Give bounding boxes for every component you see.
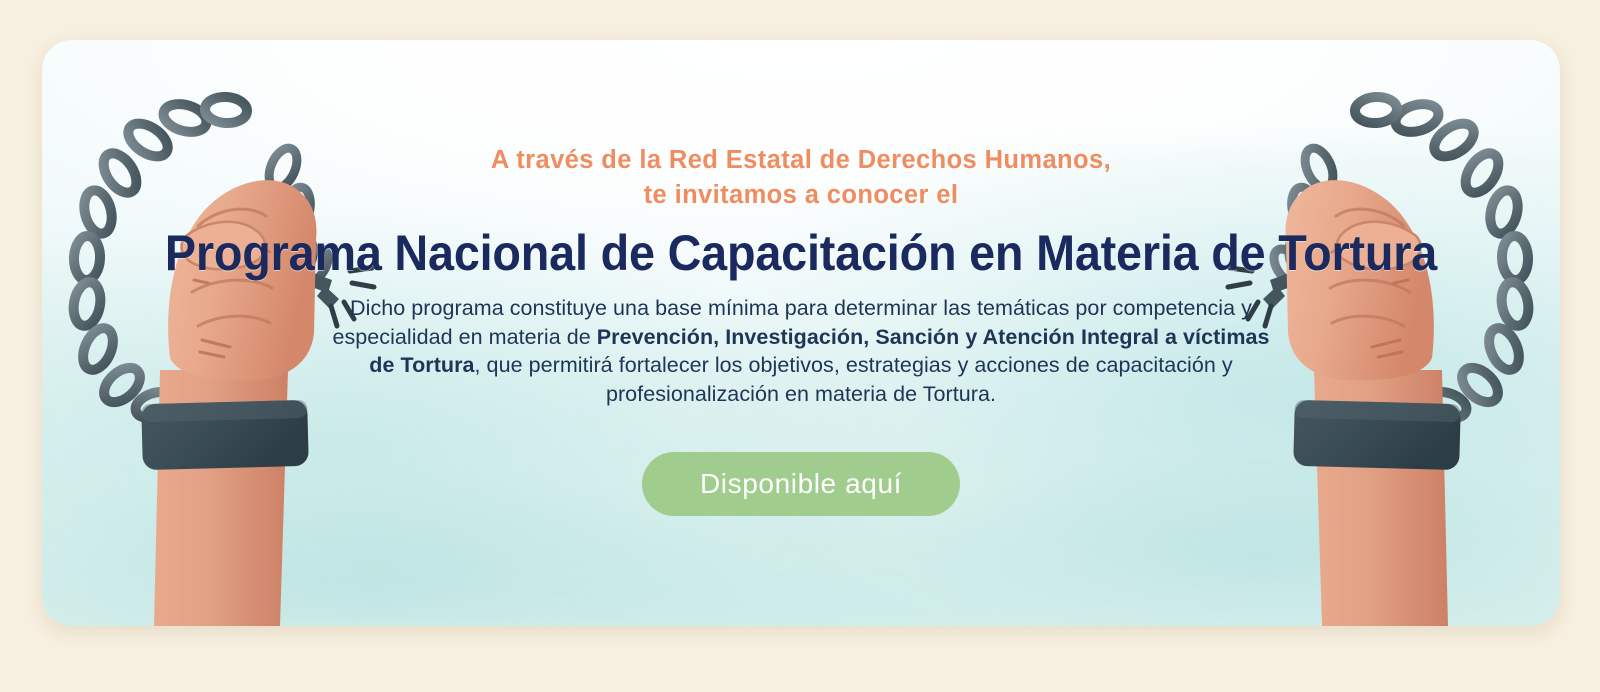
banner-kicker: A través de la Red Estatal de Derechos H…: [42, 40, 1560, 213]
description-part-2: , que permitirá fortalecer los objetivos…: [475, 353, 1233, 406]
banner-content: A través de la Red Estatal de Derechos H…: [42, 40, 1560, 516]
disponible-aqui-button[interactable]: Disponible aquí: [642, 452, 960, 516]
banner-card: A través de la Red Estatal de Derechos H…: [42, 40, 1560, 626]
banner-page: A través de la Red Estatal de Derechos H…: [0, 0, 1600, 692]
kicker-line-2: te invitamos a conocer el: [42, 178, 1560, 213]
page-title: Programa Nacional de Capacitación en Mat…: [91, 224, 1510, 282]
kicker-line-1: A través de la Red Estatal de Derechos H…: [491, 146, 1111, 174]
banner-description: Dicho programa constituye una base mínim…: [317, 294, 1285, 408]
cta-container: Disponible aquí: [42, 452, 1560, 516]
